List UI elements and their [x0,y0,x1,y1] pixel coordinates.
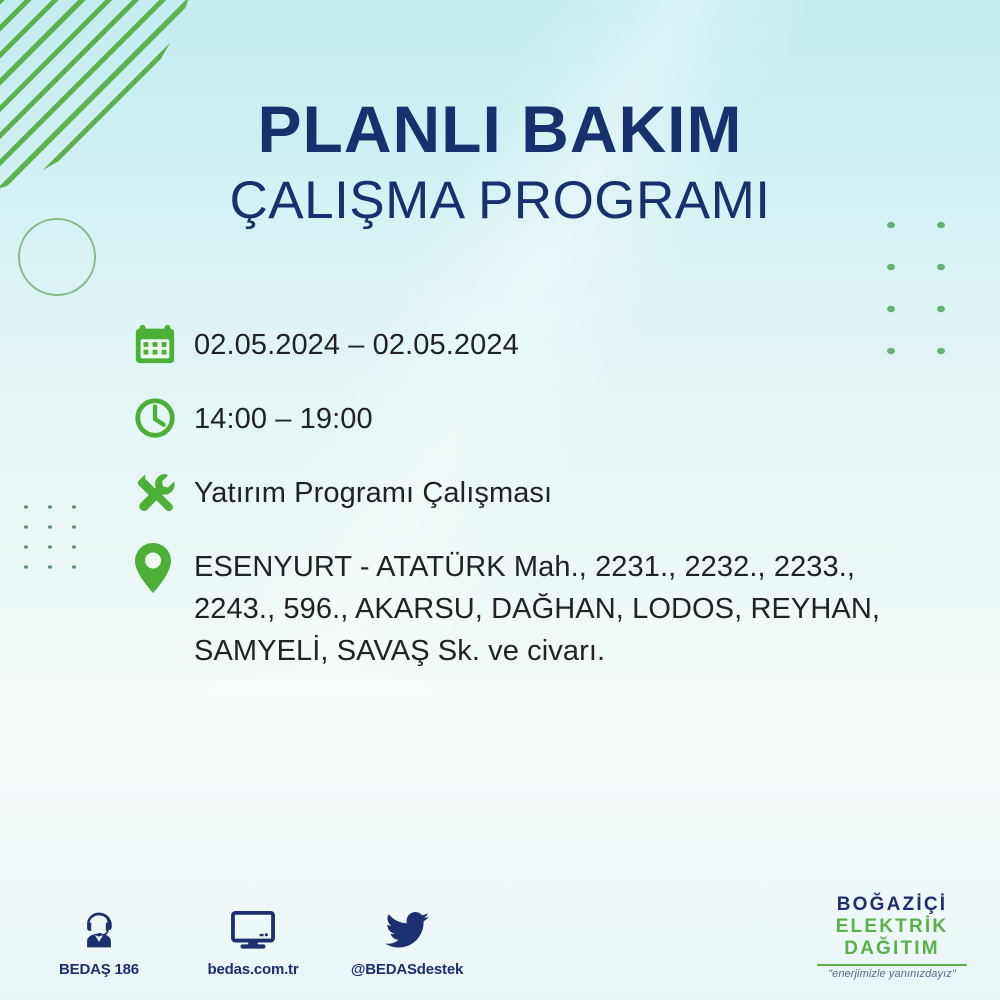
detail-text-time: 14:00 – 19:00 [194,392,373,440]
detail-text-work-type: Yatırım Programı Çalışması [194,466,552,514]
page-title: PLANLI BAKIM ÇALIŞMA PROGRAMI [0,96,1000,227]
detail-row-date: 02.05.2024 – 02.05.2024 [132,318,932,370]
footer-contacts: BEDAŞ 186 bedas.com.tr @BEDASdestek [40,904,466,978]
brand-line-2: ELEKTRİK [806,916,978,938]
brand-line-1: BOĞAZİÇİ [806,894,978,916]
dot-grid-decoration-left [12,495,90,577]
contact-label-website: bedas.com.tr [194,961,312,978]
detail-row-time: 14:00 – 19:00 [132,392,932,444]
brand-logo: BOĞAZİÇİ ELEKTRİK DAĞITIM "enerjimizle y… [806,894,978,980]
tools-icon [132,466,194,518]
brand-divider [817,964,967,966]
twitter-bird-icon [348,904,466,952]
clock-icon [132,392,194,444]
location-pin-icon [132,540,194,596]
calendar-icon [132,318,194,370]
detail-text-location: ESENYURT - ATATÜRK Mah., 2231., 2232., 2… [194,540,932,672]
brand-tagline: "enerjimizle yanınızdayız" [806,968,978,980]
detail-row-work-type: Yatırım Programı Çalışması [132,466,932,518]
title-main: PLANLI BAKIM [0,96,1000,162]
title-sub: ÇALIŞMA PROGRAMI [0,174,1000,227]
monitor-icon [194,904,312,952]
contact-label-twitter: @BEDASdestek [348,961,466,978]
circle-outline-decoration [18,218,96,296]
planned-maintenance-poster: PLANLI BAKIM ÇALIŞMA PROGRAMI [0,0,1000,1000]
contact-phone[interactable]: BEDAŞ 186 [40,904,158,978]
contact-label-phone: BEDAŞ 186 [40,961,158,978]
support-agent-icon [40,904,158,952]
detail-text-date: 02.05.2024 – 02.05.2024 [194,318,519,366]
brand-line-3: DAĞITIM [806,938,978,960]
detail-row-location: ESENYURT - ATATÜRK Mah., 2231., 2232., 2… [132,540,932,672]
contact-twitter[interactable]: @BEDASdestek [348,904,466,978]
maintenance-details-list: 02.05.2024 – 02.05.2024 14:00 – 19:00 [132,318,932,694]
contact-website[interactable]: bedas.com.tr [194,904,312,978]
